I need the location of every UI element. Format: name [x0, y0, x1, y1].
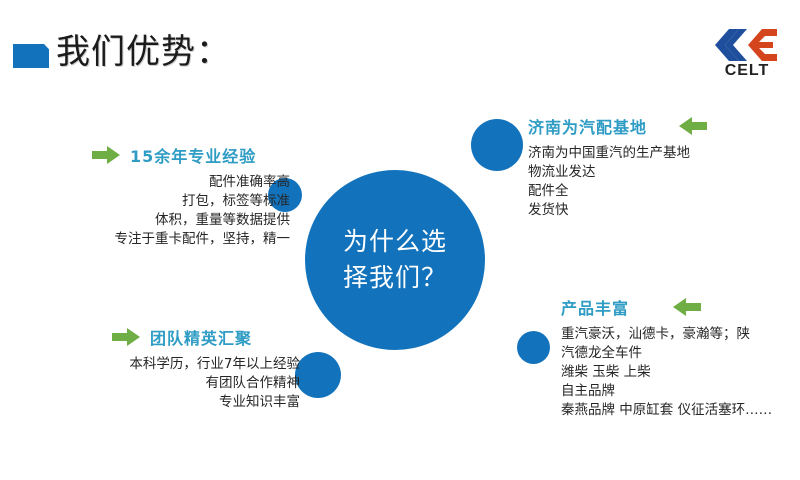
feature-experience-line-4: 专注于重卡配件，坚持，精一 [30, 230, 290, 249]
feature-base-line-1: 济南为中国重汽的生产基地 [528, 144, 783, 163]
feature-products: 产品丰富 重汽豪沃，汕德卡，豪瀚等；陕 汽德龙全车件 潍柴 玉柴 上柴 自主品牌… [561, 295, 800, 420]
center-circle-line-1: 为什么选 [336, 224, 454, 260]
feature-team-line-3: 专业知识丰富 [30, 393, 300, 412]
feature-base-line-3: 配件全 [528, 182, 783, 201]
feature-experience-title: 15余年专业经验 [130, 143, 256, 167]
celt-logo: CELT [708, 28, 786, 82]
accent-circle-bottom-right [517, 331, 550, 364]
center-circle-label: 为什么选 择我们？ [336, 224, 454, 296]
arrow-left-icon [679, 116, 707, 136]
arrow-left-icon [673, 297, 701, 317]
feature-base-body: 济南为中国重汽的生产基地 物流业发达 配件全 发货快 [528, 144, 783, 220]
feature-products-header: 产品丰富 [561, 295, 800, 319]
feature-experience-line-3: 体积，重量等数据提供 [30, 211, 290, 230]
center-circle-line-2: 择我们？ [336, 260, 454, 296]
title-marker-shape [13, 44, 49, 68]
accent-circle-top-right [471, 119, 523, 171]
feature-team-title: 团队精英汇聚 [150, 325, 252, 349]
feature-products-body: 重汽豪沃，汕德卡，豪瀚等；陕 汽德龙全车件 潍柴 玉柴 上柴 自主品牌 秦燕品牌… [561, 325, 800, 420]
feature-experience-line-2: 打包，标签等标准 [30, 192, 290, 211]
feature-experience-body: 配件准确率高 打包，标签等标准 体积，重量等数据提供 专注于重卡配件，坚持，精一 [30, 173, 290, 249]
feature-team-line-2: 有团队合作精神 [30, 374, 300, 393]
feature-experience-line-1: 配件准确率高 [30, 173, 290, 192]
feature-base-line-2: 物流业发达 [528, 163, 783, 182]
feature-base-line-4: 发货快 [528, 201, 783, 220]
page-title: 我们优势： [56, 28, 231, 76]
feature-products-line-2: 汽德龙全车件 [561, 344, 800, 363]
arrow-right-icon [92, 145, 120, 165]
feature-base-title: 济南为汽配基地 [528, 114, 647, 138]
arrow-right-icon [112, 327, 140, 347]
center-circle: 为什么选 择我们？ [305, 170, 485, 350]
feature-team: 团队精英汇聚 本科学历，行业7年以上经验 有团队合作精神 专业知识丰富 [30, 325, 300, 412]
feature-team-header: 团队精英汇聚 [30, 325, 300, 349]
feature-products-line-4: 自主品牌 [561, 382, 800, 401]
feature-products-line-1: 重汽豪沃，汕德卡，豪瀚等；陕 [561, 325, 800, 344]
feature-products-line-3: 潍柴 玉柴 上柴 [561, 363, 800, 382]
feature-experience: 15余年专业经验 配件准确率高 打包，标签等标准 体积，重量等数据提供 专注于重… [30, 143, 290, 249]
celt-logo-text: CELT [708, 62, 786, 80]
slide-canvas: 我们优势： CELT 为什么选 择我们？ 15余年专业经验 配件准确率高 打包，… [0, 0, 800, 480]
feature-products-line-5: 秦燕品牌 中原缸套 仪征活塞环…… [561, 401, 800, 420]
feature-base: 济南为汽配基地 济南为中国重汽的生产基地 物流业发达 配件全 发货快 [528, 114, 783, 220]
feature-experience-header: 15余年专业经验 [30, 143, 290, 167]
feature-team-line-1: 本科学历，行业7年以上经验 [30, 355, 300, 374]
celt-logo-icon [715, 28, 779, 62]
feature-products-title: 产品丰富 [561, 295, 629, 319]
accent-circle-bottom-left [295, 352, 341, 398]
feature-team-body: 本科学历，行业7年以上经验 有团队合作精神 专业知识丰富 [30, 355, 300, 412]
feature-base-header: 济南为汽配基地 [528, 114, 783, 138]
